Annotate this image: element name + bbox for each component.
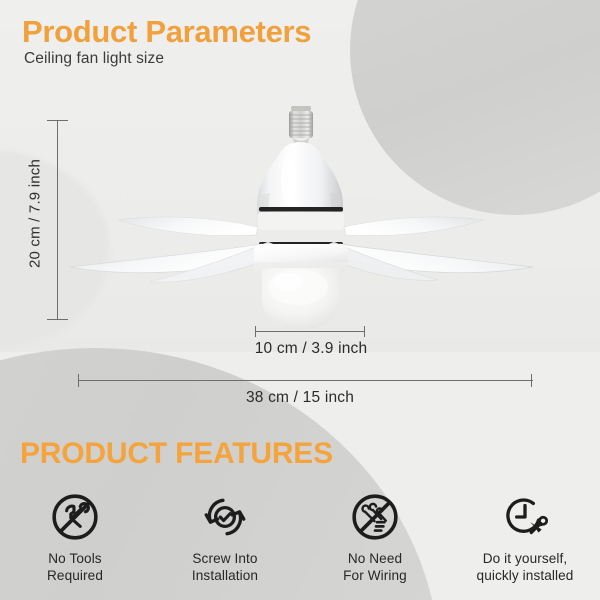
product-illustration bbox=[0, 92, 600, 342]
body-width-dimension-cap-right bbox=[364, 326, 365, 337]
blade-span-dimension-cap-right bbox=[531, 374, 532, 387]
body-width-dimension-cap-left bbox=[255, 326, 256, 337]
fan-blade-rear-left bbox=[118, 217, 258, 236]
feature-label: Screw Into Installation bbox=[192, 550, 258, 584]
page-subtitle: Ceiling fan light size bbox=[24, 50, 164, 68]
feature-label: No Need For Wiring bbox=[343, 550, 407, 584]
blade-span-dimension-cap-left bbox=[78, 374, 79, 387]
features-title: PRODUCT FEATURES bbox=[20, 437, 333, 471]
infographic-canvas: Product Parameters Ceiling fan light siz… bbox=[0, 0, 600, 600]
clock-tools-icon bbox=[500, 492, 550, 542]
feature-item-no-tools: No Tools Required bbox=[0, 492, 150, 584]
height-dimension-cap-bottom bbox=[47, 319, 68, 320]
feature-label: No Tools Required bbox=[47, 550, 103, 584]
height-dimension-line bbox=[57, 120, 58, 320]
no-wiring-icon bbox=[350, 492, 400, 542]
blade-span-dimension-label: 38 cm / 15 inch bbox=[180, 389, 420, 407]
blade-span-dimension-line bbox=[78, 380, 533, 381]
no-tools-icon bbox=[50, 492, 100, 542]
feature-label: Do it yourself, quickly installed bbox=[477, 550, 574, 584]
fan-blade-rear-right bbox=[344, 217, 484, 236]
body-width-dimension-line bbox=[255, 331, 365, 332]
page-title: Product Parameters bbox=[22, 14, 311, 50]
screw-install-icon bbox=[200, 492, 250, 542]
feature-item-diy: Do it yourself, quickly installed bbox=[450, 492, 600, 584]
height-dimension-label: 20 cm / 7.9 inch bbox=[27, 119, 44, 309]
body-width-dimension-label: 10 cm / 3.9 inch bbox=[240, 340, 382, 358]
features-list: No Tools Required Screw Into Installatio… bbox=[0, 492, 600, 592]
screw-base bbox=[289, 106, 313, 145]
upper-band bbox=[259, 207, 343, 212]
feature-item-screw-install: Screw Into Installation bbox=[150, 492, 300, 584]
feature-item-no-wiring: No Need For Wiring bbox=[300, 492, 450, 584]
height-dimension-cap-top bbox=[47, 120, 68, 121]
